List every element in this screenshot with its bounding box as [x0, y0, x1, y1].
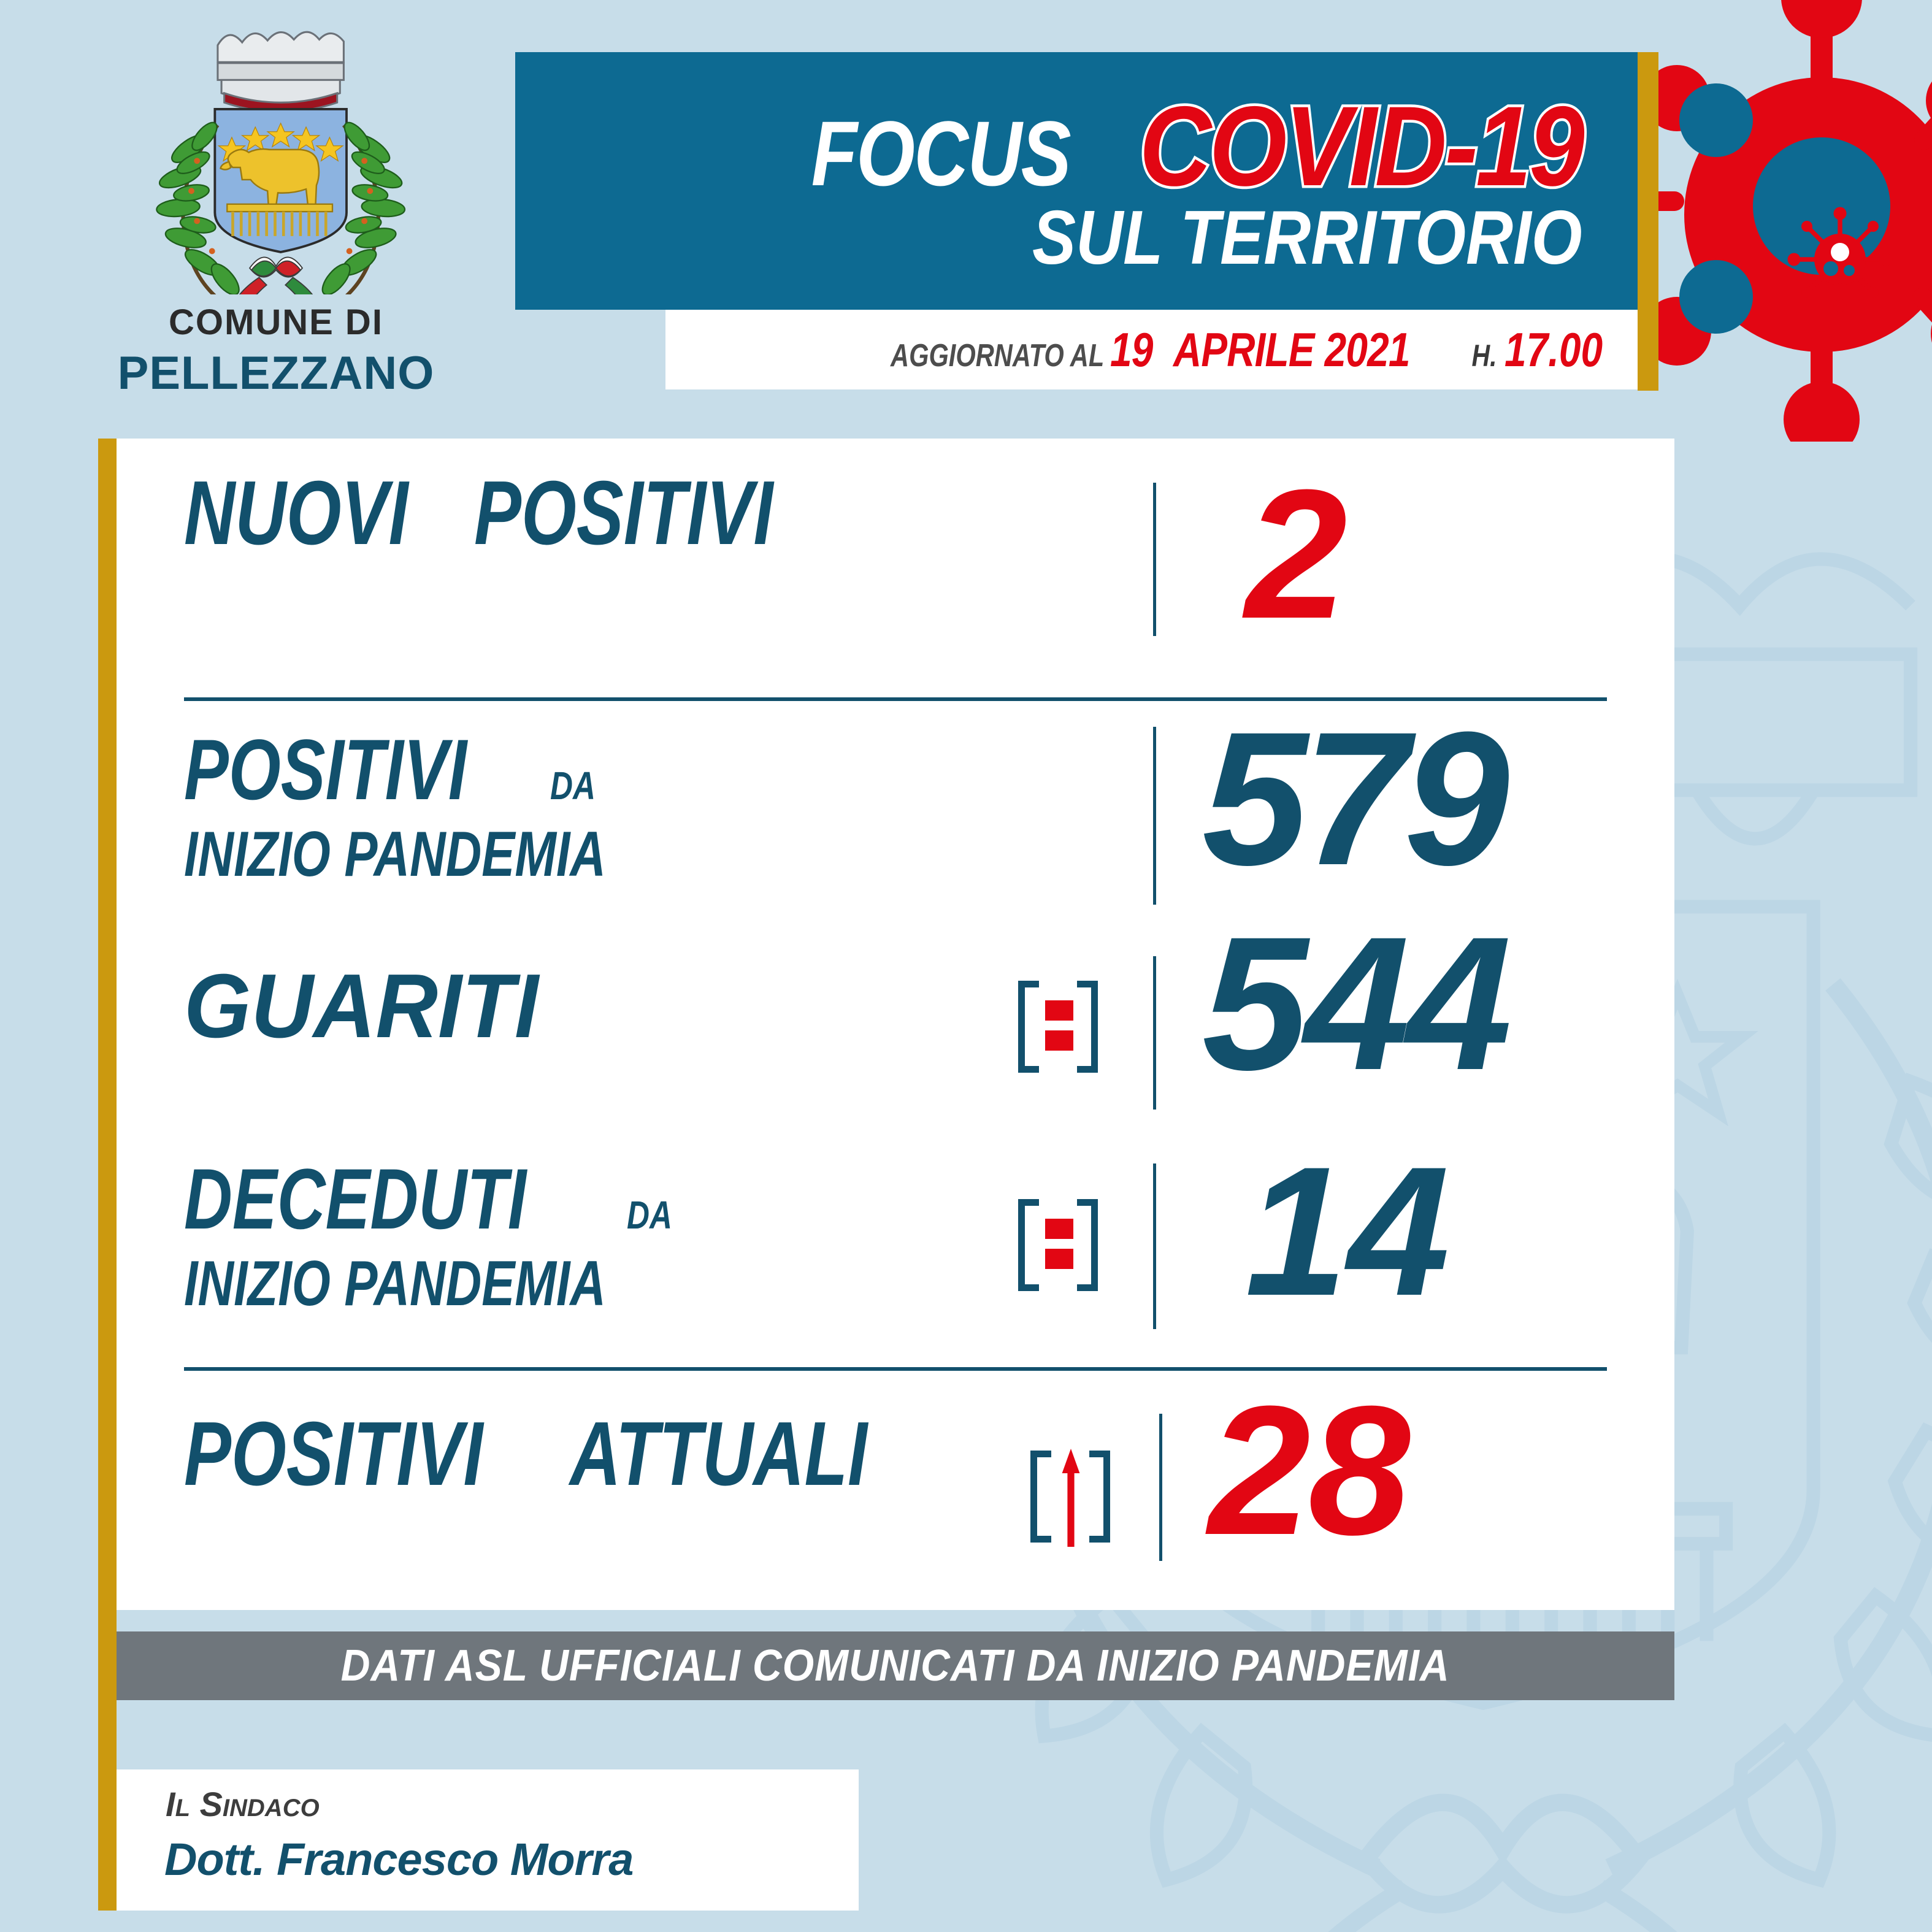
stat-label-suffix: DA: [550, 763, 596, 808]
stat-row-deceduti-da-inizio-pandemia: DECEDUTIDA INIZIO PANDEMIA 14: [117, 1138, 1674, 1377]
title-prefix: FOCUS: [811, 101, 1070, 207]
stat-label-line1: GUARITI: [184, 961, 539, 1052]
coronavirus-small-icon: [1785, 202, 1895, 313]
stat-label-line1: DECEDUTI: [184, 1156, 526, 1242]
row-divider: [1153, 1163, 1156, 1329]
equals-icon: [1045, 1219, 1073, 1269]
trend-indicator-equals: [1018, 1199, 1098, 1291]
title-main: COVID-19: [1139, 82, 1582, 212]
stat-value: 14: [1245, 1144, 1450, 1319]
hour-label: H.: [1471, 338, 1497, 374]
date-bar: AGGIORNATO AL19APRILE 2021H.17.00: [665, 310, 1638, 389]
header-banner: FOCUSCOVID-19 SUL TERRITORIO: [515, 52, 1638, 310]
signature-name: Dott. Francesco Morra: [164, 1833, 633, 1885]
stat-value: 579: [1202, 708, 1505, 889]
municipality-logo-block: COMUNE DI PELLEZZANO: [80, 12, 472, 400]
stat-value: 28: [1208, 1383, 1408, 1558]
comune-label: COMUNE DI: [80, 302, 472, 343]
row-divider: [1153, 483, 1156, 636]
trend-indicator-up: [1030, 1451, 1110, 1543]
stat-row-nuovi-positivi: NUOVI POSITIVI 2: [117, 439, 1674, 702]
stat-label-line2: ATTUALI: [570, 1409, 867, 1500]
town-name: PELLEZZANO: [80, 347, 472, 400]
bracket-right: [1077, 981, 1098, 1073]
signature-block: IL SINDACO Dott. Francesco Morra: [117, 1769, 859, 1911]
equals-icon: [1045, 1000, 1073, 1051]
header-subtitle: SUL TERRITORIO: [1032, 194, 1582, 282]
bracket-left: [1018, 981, 1039, 1073]
role-il-rest: L: [175, 1795, 190, 1822]
stat-label-line1: NUOVI: [184, 468, 408, 559]
role-sindaco-rest: INDACO: [223, 1795, 320, 1822]
stat-label-line2: INIZIO PANDEMIA: [184, 1252, 606, 1316]
bracket-left: [1018, 1199, 1039, 1291]
date-day: 19: [1110, 322, 1153, 378]
stat-label-line2: POSITIVI: [474, 468, 773, 559]
stat-label-line2: INIZIO PANDEMIA: [184, 822, 606, 886]
footer-note: DATI ASL UFFICIALI COMUNICATI DA INIZIO …: [341, 1641, 1450, 1691]
arrow-up-icon: [1061, 1435, 1081, 1561]
stats-card: NUOVI POSITIVI 2 POSITIVIDA INIZIO PANDE…: [117, 439, 1674, 1610]
date-time: 17.00: [1505, 322, 1603, 378]
row-divider: [1159, 1414, 1162, 1561]
bracket-right: [1077, 1199, 1098, 1291]
coat-of-arms-icon: [132, 12, 420, 294]
gold-accent-stripe-signature: [98, 1769, 117, 1911]
signature-role: IL SINDACO: [166, 1784, 320, 1824]
footer-note-bar: DATI ASL UFFICIALI COMUNICATI DA INIZIO …: [117, 1631, 1674, 1700]
row-divider: [1153, 727, 1156, 905]
stat-row-positivi-attuali: POSITIVI ATTUALI 28: [117, 1377, 1674, 1610]
bracket-right: [1089, 1451, 1110, 1543]
date-month-year: APRILE 2021: [1173, 322, 1410, 378]
bracket-left: [1030, 1451, 1051, 1543]
stat-label-line1: POSITIVI: [184, 1409, 483, 1500]
gold-accent-stripe-left: [98, 439, 117, 1911]
role-sindaco: S: [200, 1785, 223, 1823]
date-prefix: AGGIORNATO AL: [891, 337, 1104, 374]
stat-value: 2: [1245, 467, 1347, 642]
stat-row-guariti: GUARITI 544: [117, 941, 1674, 1138]
stat-label-line1: POSITIVI: [184, 727, 467, 813]
gold-accent-stripe-vertical: [1638, 52, 1658, 391]
stat-label-suffix: DA: [627, 1192, 672, 1238]
row-divider: [1153, 956, 1156, 1110]
header-title-row: FOCUSCOVID-19: [754, 82, 1582, 212]
role-il: I: [166, 1785, 175, 1823]
trend-indicator-equals: [1018, 981, 1098, 1073]
stat-value: 544: [1202, 913, 1508, 1094]
